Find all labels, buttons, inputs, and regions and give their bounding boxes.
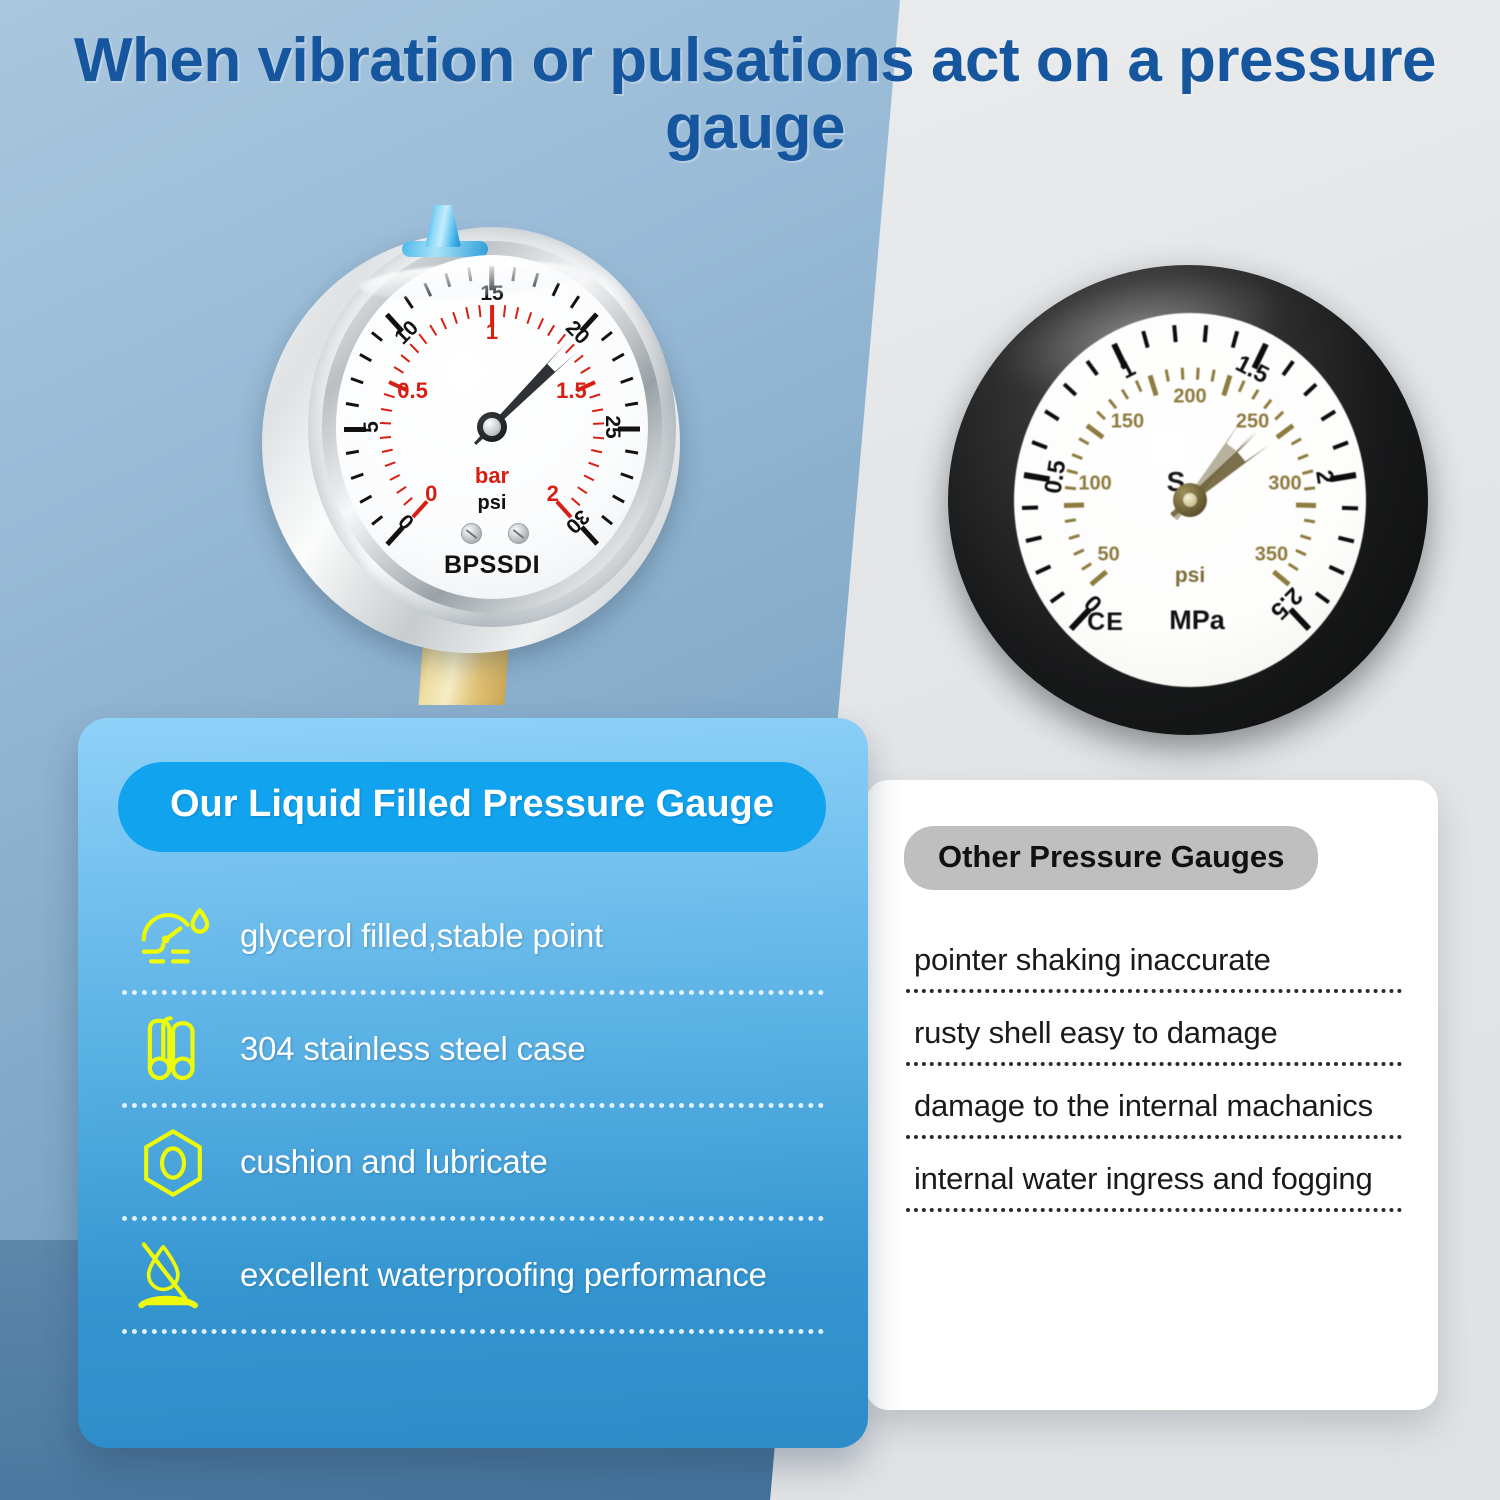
ce-mark-icon: CE (1087, 608, 1124, 637)
scale-label: 1 (1116, 354, 1141, 385)
divider-dotted (122, 1216, 824, 1221)
scale-label: 300 (1268, 473, 1301, 496)
feature-label: glycerol filled,stable point (240, 918, 603, 954)
issue-item: damage to the internal machanics (904, 1088, 1404, 1135)
our-gauge-heading: Our Liquid Filled Pressure Gauge (118, 762, 826, 852)
feature-row: 304 stainless steel case (118, 1005, 828, 1101)
infographic-stage: When vibration or pulsations act on a pr… (0, 0, 1500, 1500)
scale-label: 150 (1111, 410, 1144, 433)
other-gauge-needle-hub (1173, 483, 1207, 517)
divider-dotted (122, 990, 824, 995)
scale-label: 2 (1309, 468, 1339, 486)
hex-oil-icon (134, 1124, 212, 1202)
other-gauges-heading: Other Pressure Gauges (904, 826, 1318, 890)
gauge-unit-psi-label: psi (478, 492, 507, 515)
feature-row: glycerol filled,stable point (118, 892, 828, 988)
divider-dotted (906, 989, 1402, 993)
divider-dotted (906, 1208, 1402, 1212)
scale-label: 0.5 (1039, 458, 1072, 495)
our-features-list: glycerol filled,stable point304 stainles… (118, 892, 828, 1334)
scale-label: 5 (360, 421, 384, 433)
liquid-filled-gauge: 051015202530 00.511.52 bar psi BPSSDI (250, 205, 710, 705)
gauge-droplet-icon (134, 898, 212, 976)
scale-label: 350 (1255, 543, 1288, 566)
scale-label: 0.5 (397, 378, 428, 404)
other-issues-list: pointer shaking inaccuraterusty shell ea… (904, 942, 1404, 1212)
scale-label: 200 (1173, 386, 1206, 409)
issue-item: internal water ingress and fogging (904, 1161, 1404, 1208)
divider-dotted (122, 1103, 824, 1108)
gauge-needle-hub (477, 412, 507, 442)
other-gauge-unit-mpa-label: MPa (1169, 605, 1225, 636)
gauge-brand-label: BPSSDI (444, 551, 540, 580)
gauge-screw-left (461, 523, 482, 544)
scale-label: 1 (486, 319, 498, 345)
scale-label: 25 (600, 415, 624, 438)
other-gauges-card: Other Pressure Gauges pointer shaking in… (866, 780, 1438, 1410)
other-gauge-dial-face: 00.511.522.5 50100150200250300350 S psi … (1014, 313, 1366, 687)
divider-dotted (906, 1135, 1402, 1139)
feature-label: cushion and lubricate (240, 1144, 548, 1180)
scale-label: 1.5 (556, 378, 587, 404)
page-title: When vibration or pulsations act on a pr… (70, 28, 1440, 162)
steel-tubes-icon (134, 1011, 212, 1089)
scale-label: 50 (1097, 543, 1119, 566)
gauge-screw-right (508, 523, 529, 544)
scale-label: 0 (395, 508, 420, 533)
scale-label: 0 (425, 481, 437, 507)
scale-label: 100 (1078, 473, 1111, 496)
scale-label: 1.5 (1231, 350, 1273, 390)
feature-label: 304 stainless steel case (240, 1031, 586, 1067)
gauge-dial-face: 051015202530 00.511.52 bar psi BPSSDI (336, 255, 648, 599)
our-gauge-card: Our Liquid Filled Pressure Gauge glycero… (78, 718, 868, 1448)
water-repellent-icon (134, 1237, 212, 1315)
issue-item: pointer shaking inaccurate (904, 942, 1404, 989)
divider-dotted (122, 1329, 824, 1334)
feature-row: excellent waterproofing performance (118, 1231, 828, 1327)
issue-item: rusty shell easy to damage (904, 1015, 1404, 1062)
divider-dotted (906, 1062, 1402, 1066)
scale-label: 250 (1236, 410, 1269, 433)
other-gauge-unit-psi-label: psi (1175, 564, 1205, 588)
gauge-vent-plug-icon (425, 205, 461, 247)
feature-label: excellent waterproofing performance (240, 1257, 767, 1293)
scale-label: 2 (547, 481, 559, 507)
gauge-unit-bar-label: bar (475, 463, 509, 489)
other-gauge: 00.511.522.5 50100150200250300350 S psi … (948, 265, 1428, 735)
feature-row: cushion and lubricate (118, 1118, 828, 1214)
